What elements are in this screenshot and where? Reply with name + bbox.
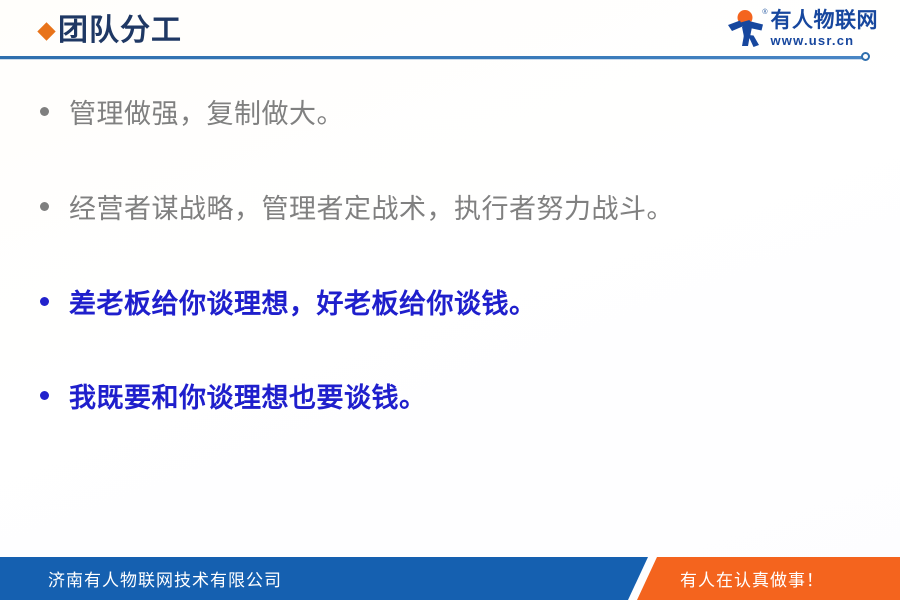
- list-item: 经营者谋战略，管理者定战术，执行者努力战斗。: [40, 195, 674, 225]
- list-item-text: 我既要和你谈理想也要谈钱。: [69, 384, 427, 414]
- registered-trademark-icon: ®: [762, 9, 767, 16]
- list-item-text: 经营者谋战略，管理者定战术，执行者努力战斗。: [69, 195, 674, 225]
- page-title: 团队分工: [40, 10, 182, 52]
- list-item: 我既要和你谈理想也要谈钱。: [40, 384, 427, 414]
- presentation-slide: 团队分工 ® 有人物联网 www.usr.cn: [0, 0, 900, 600]
- bullet-dot-icon: [40, 297, 49, 306]
- header-divider-shadow: [0, 59, 866, 60]
- list-item-text: 管理做强，复制做大。: [69, 100, 344, 130]
- brand-logo-text: 有人物联网 www.usr.cn: [771, 10, 879, 47]
- header-divider-end-circle-icon: [861, 52, 870, 61]
- usr-person-logo-icon: ®: [725, 8, 767, 48]
- list-item: 差老板给你谈理想，好老板给你谈钱。: [40, 290, 537, 320]
- slide-body: 管理做强，复制做大。 经营者谋战略，管理者定战术，执行者努力战斗。 差老板给你谈…: [0, 62, 900, 552]
- footer-company-name: 济南有人物联网技术有限公司: [48, 557, 282, 600]
- footer-slogan: 有人在认真做事！: [680, 557, 824, 600]
- brand-logo: ® 有人物联网 www.usr.cn: [725, 7, 879, 49]
- brand-name-cn: 有人物联网: [771, 10, 879, 31]
- slide-header: 团队分工 ® 有人物联网 www.usr.cn: [0, 0, 900, 62]
- slide-footer: 济南有人物联网技术有限公司 有人在认真做事！: [0, 557, 900, 600]
- bullet-dot-icon: [40, 391, 49, 400]
- orange-diamond-icon: [37, 22, 55, 40]
- bullet-dot-icon: [40, 202, 49, 211]
- brand-website: www.usr.cn: [771, 34, 879, 47]
- list-item: 管理做强，复制做大。: [40, 100, 344, 130]
- bullet-dot-icon: [40, 107, 49, 116]
- list-item-text: 差老板给你谈理想，好老板给你谈钱。: [69, 290, 537, 320]
- page-title-text: 团队分工: [58, 16, 182, 46]
